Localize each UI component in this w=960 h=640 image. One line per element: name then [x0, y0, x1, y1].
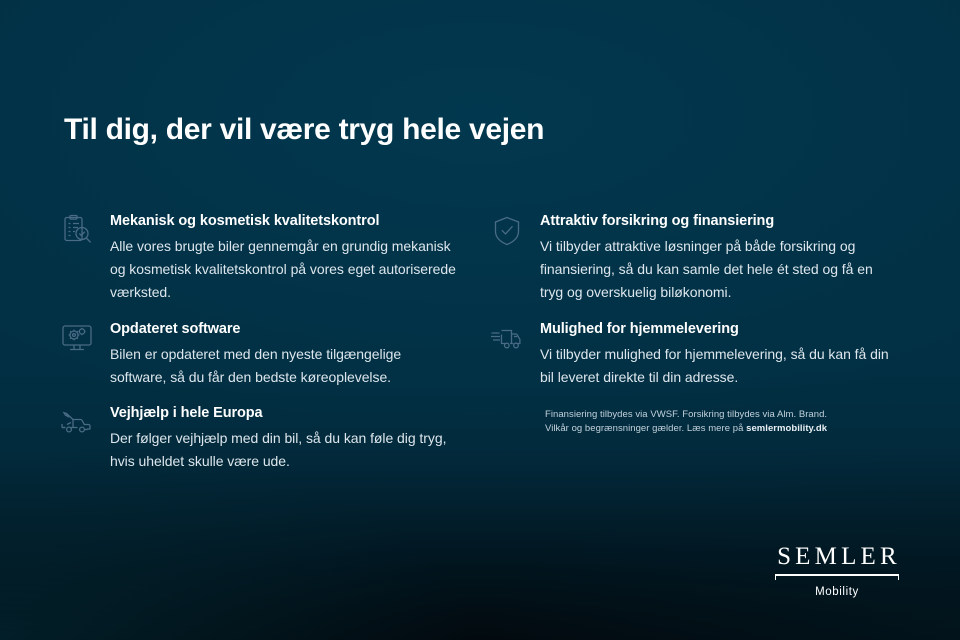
feature-item-roadside-assistance: Vejhjælp i hele Europa Der følger vejhjæ…: [60, 404, 460, 473]
feature-title: Vejhjælp i hele Europa: [110, 404, 460, 423]
feature-text: Alle vores brugte biler gennemgår en gru…: [110, 235, 460, 304]
feature-item-quality-control: Mekanisk og kosmetisk kvalitetskontrol A…: [60, 212, 460, 304]
clipboard-magnifier-icon: [60, 212, 102, 252]
feature-body: Opdateret software Bilen er opdateret me…: [102, 320, 460, 389]
feature-text: Bilen er opdateret med den nyeste tilgæn…: [110, 343, 460, 389]
feature-body: Attraktiv forsikring og finansiering Vi …: [532, 212, 890, 304]
fine-print-line-1: Finansiering tilbydes via VWSF. Forsikri…: [545, 408, 905, 422]
shield-check-icon: [490, 212, 532, 252]
fine-print-line-2-text: Vilkår og begrænsninger gælder. Læs mere…: [545, 423, 746, 434]
feature-item-software: Opdateret software Bilen er opdateret me…: [60, 320, 460, 389]
feature-text: Vi tilbyder attraktive løsninger på både…: [540, 235, 890, 304]
semler-mobility-logo: SEMLER Mobility: [772, 543, 902, 598]
feature-text: Der følger vejhjælp med din bil, så du k…: [110, 427, 460, 473]
page-container: Til dig, der vil være tryg hele vejen Me…: [0, 0, 960, 640]
feature-body: Mulighed for hjemmelevering Vi tilbyder …: [532, 320, 890, 389]
logo-wordmark: SEMLER: [772, 543, 902, 571]
fine-print-line-2: Vilkår og begrænsninger gælder. Læs mere…: [545, 422, 905, 436]
feature-title: Mulighed for hjemmelevering: [540, 320, 890, 339]
monitor-gears-icon: [60, 320, 102, 360]
feature-body: Vejhjælp i hele Europa Der følger vejhjæ…: [102, 404, 460, 473]
feature-title: Opdateret software: [110, 320, 460, 339]
feature-body: Mekanisk og kosmetisk kvalitetskontrol A…: [102, 212, 460, 304]
logo-divider-rule: [775, 574, 899, 583]
tow-truck-icon: [60, 404, 102, 444]
logo-subtitle: Mobility: [772, 586, 902, 598]
feature-text: Vi tilbyder mulighed for hjemmelevering,…: [540, 343, 890, 389]
feature-item-home-delivery: Mulighed for hjemmelevering Vi tilbyder …: [490, 320, 890, 389]
fine-print-website-link[interactable]: semlermobility.dk: [746, 423, 827, 434]
feature-title: Mekanisk og kosmetisk kvalitetskontrol: [110, 212, 460, 231]
fine-print-disclaimer: Finansiering tilbydes via VWSF. Forsikri…: [545, 408, 905, 436]
feature-item-insurance-financing: Attraktiv forsikring og finansiering Vi …: [490, 212, 890, 304]
feature-title: Attraktiv forsikring og finansiering: [540, 212, 890, 231]
page-title: Til dig, der vil være tryg hele vejen: [64, 113, 544, 147]
delivery-truck-icon: [490, 320, 532, 360]
